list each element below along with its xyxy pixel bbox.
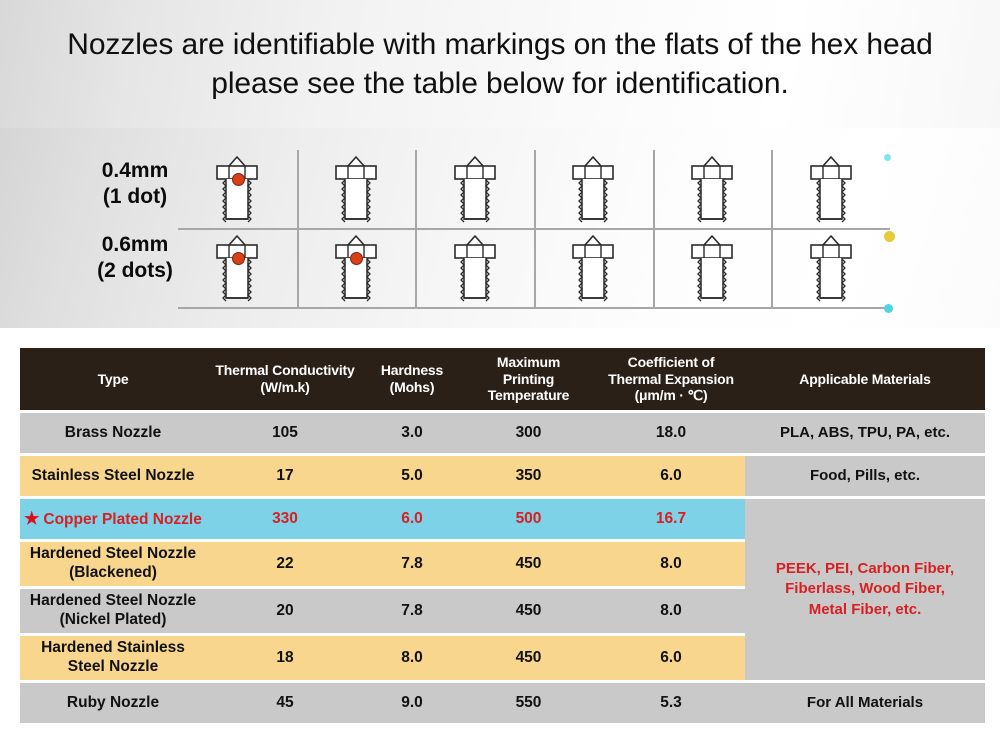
nozzle-spec-table-wrap: Type Thermal Conductivity (W/m.k) Hardne… — [20, 345, 985, 726]
nozzle-icon — [204, 153, 270, 226]
cell-max-temp: 300 — [460, 413, 597, 453]
cell-type: Hardened Steel Nozzle (Nickel Plated) — [20, 589, 206, 633]
nozzle-cell-r0-c3 — [534, 150, 653, 228]
cell-cte: 18.0 — [597, 413, 745, 453]
star-icon: ★ — [24, 509, 39, 528]
nozzle-cell-r0-c0 — [178, 150, 297, 228]
nozzle-icon — [323, 153, 389, 226]
nozzle-cell-r0-c2 — [415, 150, 534, 228]
nozzle-icon — [798, 232, 864, 305]
table-header-row: Type Thermal Conductivity (W/m.k) Hardne… — [20, 348, 985, 410]
cell-thermal-conductivity: 22 — [206, 542, 364, 586]
column-header-type: Type — [20, 348, 206, 410]
cell-max-temp: 450 — [460, 589, 597, 633]
cell-thermal-conductivity: 330 — [206, 499, 364, 539]
column-header-thermal-conductivity: Thermal Conductivity (W/m.k) — [206, 348, 364, 410]
nozzle-cell-r0-c5 — [771, 150, 890, 228]
column-header-coefficient-thermal-expansion: Coefficient of Thermal Expansion (μm/m ·… — [597, 348, 745, 410]
nozzle-cell-r1-c4 — [653, 229, 772, 307]
cyan-dot-bottom — [884, 304, 893, 313]
cell-cte: 6.0 — [597, 636, 745, 680]
nozzle-icon — [442, 153, 508, 226]
cell-applicable-materials: Food, Pills, etc. — [745, 456, 985, 496]
cell-cte: 16.7 — [597, 499, 745, 539]
nozzle-icon — [560, 232, 626, 305]
cell-applicable-materials-merged: PEEK, PEI, Carbon Fiber, Fiberlass, Wood… — [745, 499, 985, 680]
nozzle-icon — [560, 153, 626, 226]
cell-applicable-materials: PLA, ABS, TPU, PA, etc. — [745, 413, 985, 453]
cell-type: ★Copper Plated Nozzle — [20, 499, 206, 539]
nozzle-icon — [204, 232, 270, 305]
table-row: Ruby Nozzle459.05505.3For All Materials — [20, 683, 985, 723]
cell-max-temp: 500 — [460, 499, 597, 539]
table-row: Brass Nozzle1053.030018.0PLA, ABS, TPU, … — [20, 413, 985, 453]
nozzle-marking-dot — [350, 252, 363, 265]
nozzle-marking-dot — [232, 173, 245, 186]
headline-text: Nozzles are identifiable with markings o… — [41, 25, 958, 103]
cell-type-label: Copper Plated Nozzle — [43, 511, 201, 528]
nozzle-cell-r1-c2 — [415, 229, 534, 307]
cell-hardness: 9.0 — [364, 683, 460, 723]
cell-hardness: 8.0 — [364, 636, 460, 680]
table-row: ★Copper Plated Nozzle3306.050016.7PEEK, … — [20, 499, 985, 539]
headline-band: Nozzles are identifiable with markings o… — [0, 0, 1000, 128]
yellow-dot-mid — [884, 231, 895, 242]
cell-max-temp: 350 — [460, 456, 597, 496]
cell-thermal-conductivity: 20 — [206, 589, 364, 633]
cell-thermal-conductivity: 18 — [206, 636, 364, 680]
nozzle-icon — [679, 232, 745, 305]
cell-max-temp: 450 — [460, 542, 597, 586]
cell-type: Hardened Stainless Steel Nozzle — [20, 636, 206, 680]
nozzle-spec-table: Type Thermal Conductivity (W/m.k) Hardne… — [20, 345, 985, 726]
cell-cte: 8.0 — [597, 542, 745, 586]
cell-thermal-conductivity: 105 — [206, 413, 364, 453]
slide-root: Nozzles are identifiable with markings o… — [0, 0, 1000, 731]
cell-hardness: 5.0 — [364, 456, 460, 496]
cell-cte: 5.3 — [597, 683, 745, 723]
cell-max-temp: 450 — [460, 636, 597, 680]
cell-hardness: 3.0 — [364, 413, 460, 453]
cell-cte: 8.0 — [597, 589, 745, 633]
cell-hardness: 6.0 — [364, 499, 460, 539]
nozzle-grid — [178, 150, 890, 310]
nozzle-cell-r1-c1 — [297, 229, 416, 307]
nozzle-icon — [798, 153, 864, 226]
cell-type: Hardened Steel Nozzle (Blackened) — [20, 542, 206, 586]
nozzle-icon — [442, 232, 508, 305]
nozzle-cell-r1-c0 — [178, 229, 297, 307]
column-header-hardness: Hardness (Mohs) — [364, 348, 460, 410]
nozzle-cell-r1-c3 — [534, 229, 653, 307]
cell-type: Stainless Steel Nozzle — [20, 456, 206, 496]
nozzle-cell-r0-c1 — [297, 150, 416, 228]
cell-type: Brass Nozzle — [20, 413, 206, 453]
nozzle-icon — [679, 153, 745, 226]
cell-hardness: 7.8 — [364, 542, 460, 586]
cell-type: Ruby Nozzle — [20, 683, 206, 723]
nozzle-cell-r1-c5 — [771, 229, 890, 307]
nozzle-marking-dot — [232, 252, 245, 265]
nozzle-cell-r0-c4 — [653, 150, 772, 228]
cyan-dot-top — [884, 154, 891, 161]
table-row: Stainless Steel Nozzle175.03506.0Food, P… — [20, 456, 985, 496]
cell-max-temp: 550 — [460, 683, 597, 723]
nozzle-diagram-band: 0.4mm (1 dot) 0.6mm (2 dots) — [0, 128, 1000, 328]
cell-cte: 6.0 — [597, 456, 745, 496]
cell-applicable-materials: For All Materials — [745, 683, 985, 723]
table-body: Brass Nozzle1053.030018.0PLA, ABS, TPU, … — [20, 413, 985, 723]
column-header-applicable-materials: Applicable Materials — [745, 348, 985, 410]
nozzle-icon — [323, 232, 389, 305]
column-header-max-printing-temperature: Maximum Printing Temperature — [460, 348, 597, 410]
cell-hardness: 7.8 — [364, 589, 460, 633]
cell-thermal-conductivity: 17 — [206, 456, 364, 496]
cell-thermal-conductivity: 45 — [206, 683, 364, 723]
